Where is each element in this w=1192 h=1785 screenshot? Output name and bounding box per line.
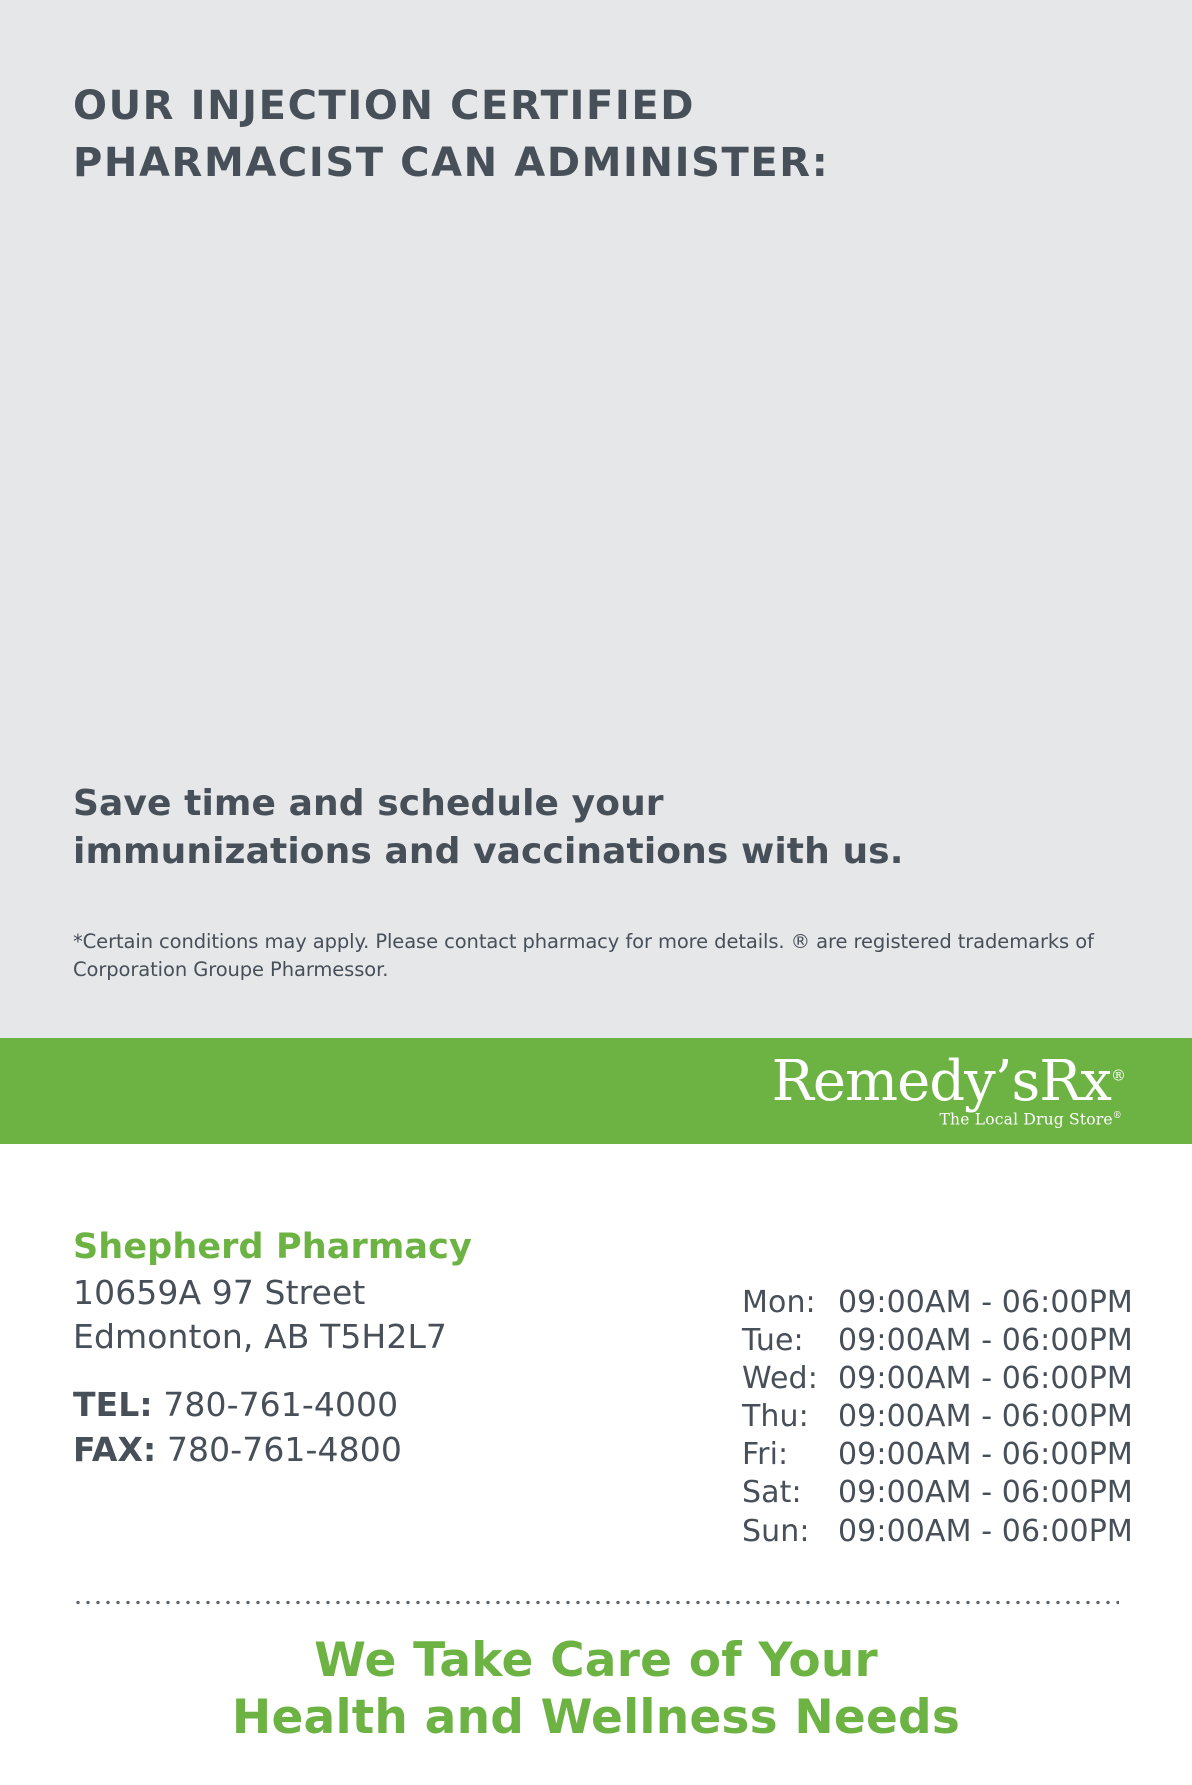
telephone-value[interactable]: 780-761-4000 xyxy=(163,1385,398,1424)
subheading: Save time and schedule your immunization… xyxy=(73,780,933,875)
store-address-line-1: 10659A 97 Street xyxy=(73,1271,593,1316)
top-gray-panel: OUR INJECTION CERTIFIED PHARMACIST CAN A… xyxy=(0,0,1192,1038)
closing-tagline: We Take Care of Your Health and Wellness… xyxy=(0,1632,1192,1747)
store-fax: FAX: 780-761-4800 xyxy=(73,1427,593,1473)
store-name: Shepherd Pharmacy xyxy=(73,1225,593,1271)
hours-time-value: 09:00AM - 06:00PM xyxy=(838,1398,1133,1436)
brand-banner: Remedy’sRx® The Local Drug Store® xyxy=(0,1038,1192,1144)
page-title-line-2: PHARMACIST CAN ADMINISTER: xyxy=(73,135,973,192)
fax-value: 780-761-4800 xyxy=(167,1430,402,1469)
store-address-line-2: Edmonton, AB T5H2L7 xyxy=(73,1315,593,1360)
hours-day-label: Sat: xyxy=(742,1474,838,1512)
page-title-line-1: OUR INJECTION CERTIFIED xyxy=(73,78,973,135)
logo-tagline-text: The Local Drug Store xyxy=(940,1110,1113,1128)
hours-time-value: 09:00AM - 06:00PM xyxy=(838,1436,1133,1474)
fax-label: FAX: xyxy=(73,1430,156,1469)
disclaimer-line-1: *Certain conditions may apply. Please co… xyxy=(73,928,1113,956)
hours-day-label: Thu: xyxy=(742,1398,838,1436)
hours-row: Fri: 09:00AM - 06:00PM xyxy=(742,1436,1133,1474)
hours-time-value: 09:00AM - 06:00PM xyxy=(838,1360,1133,1398)
hours-day-label: Mon: xyxy=(742,1284,838,1322)
store-details: Shepherd Pharmacy 10659A 97 Street Edmon… xyxy=(73,1225,593,1473)
store-hours-table: Mon: 09:00AM - 06:00PM Tue: 09:00AM - 06… xyxy=(742,1284,1133,1551)
logo-wordmark: Remedy’sRx® xyxy=(772,1054,1126,1110)
remedysrx-logo: Remedy’sRx® The Local Drug Store® xyxy=(772,1054,1126,1128)
page-title: OUR INJECTION CERTIFIED PHARMACIST CAN A… xyxy=(73,78,973,192)
logo-tagline-registered-icon: ® xyxy=(1113,1111,1122,1121)
hours-day-label: Fri: xyxy=(742,1436,838,1474)
hours-time-value: 09:00AM - 06:00PM xyxy=(838,1284,1133,1322)
hours-time-value: 09:00AM - 06:00PM xyxy=(838,1322,1133,1360)
hours-row: Sun: 09:00AM - 06:00PM xyxy=(742,1513,1133,1551)
hours-row: Tue: 09:00AM - 06:00PM xyxy=(742,1322,1133,1360)
hours-day-label: Sun: xyxy=(742,1513,838,1551)
hours-time-value: 09:00AM - 06:00PM xyxy=(838,1474,1133,1512)
hours-row: Thu: 09:00AM - 06:00PM xyxy=(742,1398,1133,1436)
closing-tagline-line-2: Health and Wellness Needs xyxy=(0,1689,1192,1746)
hours-row: Sat: 09:00AM - 06:00PM xyxy=(742,1474,1133,1512)
store-telephone: TEL: 780-761-4000 xyxy=(73,1382,593,1428)
disclaimer-line-2: Corporation Groupe Pharmessor. xyxy=(73,956,1113,984)
subheading-line-2: immunizations and vaccinations with us. xyxy=(73,828,933,876)
hours-time-value: 09:00AM - 06:00PM xyxy=(838,1513,1133,1551)
hours-day-label: Wed: xyxy=(742,1360,838,1398)
hours-row: Mon: 09:00AM - 06:00PM xyxy=(742,1284,1133,1322)
subheading-line-1: Save time and schedule your xyxy=(73,780,933,828)
hours-day-label: Tue: xyxy=(742,1322,838,1360)
dotted-divider xyxy=(73,1600,1119,1605)
disclaimer-text: *Certain conditions may apply. Please co… xyxy=(73,928,1113,985)
registered-trademark-icon: ® xyxy=(1111,1067,1126,1085)
vaccine-list-area xyxy=(73,220,1113,660)
closing-tagline-line-1: We Take Care of Your xyxy=(0,1632,1192,1689)
hours-row: Wed: 09:00AM - 06:00PM xyxy=(742,1360,1133,1398)
telephone-label: TEL: xyxy=(73,1385,153,1424)
logo-wordmark-text: Remedy’sRx xyxy=(772,1049,1111,1114)
address-contact-spacer xyxy=(73,1360,593,1382)
logo-tagline: The Local Drug Store® xyxy=(772,1112,1122,1128)
